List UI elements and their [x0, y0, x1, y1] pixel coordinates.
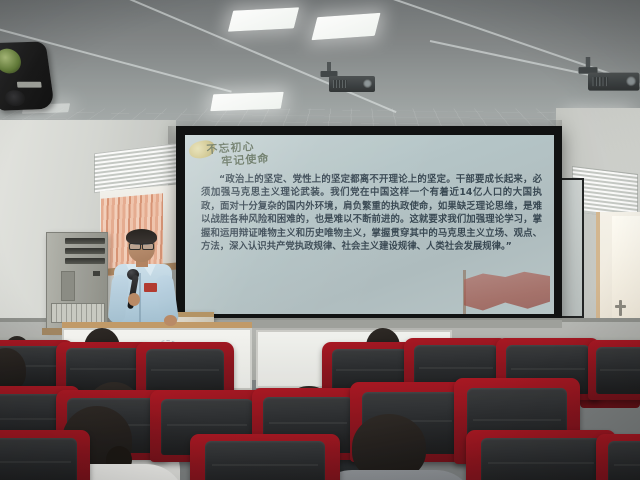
- speaker-label: [17, 82, 42, 88]
- projector-lens-icon: [626, 76, 636, 86]
- audience-seating: [0, 334, 640, 480]
- projection-screen: 不忘初心 牢记使命 “政治上的坚定、党性上的坚定都离不开理论上的坚定。干部要成长…: [176, 126, 562, 324]
- speaker-cone-icon: [0, 48, 23, 74]
- equipment-cabinet: [46, 232, 108, 330]
- panel-light-3: [210, 92, 283, 111]
- seat[interactable]: [0, 430, 90, 480]
- presenter-at-lectern: [108, 231, 182, 331]
- presenter-hand-right: [164, 315, 177, 326]
- speaker-woofer-icon: [4, 90, 26, 107]
- seat[interactable]: [596, 434, 640, 480]
- presenter-hand-left: [128, 293, 140, 306]
- slide-header: 不忘初心 牢记使命: [206, 135, 328, 173]
- presenter-badge: [144, 283, 157, 292]
- screen-surface: 不忘初心 牢记使命 “政治上的坚定、党性上的坚定都离不开理论上的坚定。干部要成长…: [185, 135, 554, 314]
- cabinet-door[interactable]: [61, 271, 75, 301]
- slide-body-text: “政治上的坚定、党性上的坚定都离不开理论上的坚定。干部要成长起来，必须加强马克思…: [201, 173, 542, 253]
- seat-cushion: [608, 441, 640, 480]
- projector-body: [588, 73, 640, 91]
- projector-lens-icon: [363, 79, 372, 88]
- seat-cushion: [146, 349, 224, 393]
- cabinet-indicator-icon: [93, 271, 100, 276]
- seat-cushion: [0, 438, 77, 480]
- seat-cushion: [205, 441, 325, 480]
- window-handle-icon[interactable]: [619, 300, 622, 316]
- window-right-upper: [560, 178, 584, 318]
- panel-light-1: [228, 7, 299, 31]
- cabinet-vent-icon: [65, 238, 105, 244]
- cabinet-grille-icon: [51, 303, 105, 323]
- projector-vent-icon: [592, 77, 608, 86]
- red-flag-graphic: [464, 270, 550, 314]
- cabinet-vent-icon: [65, 248, 105, 254]
- panel-light-2: [311, 13, 380, 40]
- seat-cushion: [481, 438, 601, 480]
- projector-vent-icon: [333, 80, 347, 88]
- seat-cushion: [596, 347, 640, 394]
- cabinet-vent-icon: [65, 258, 105, 264]
- window-handle-icon[interactable]: [615, 305, 626, 308]
- seat[interactable]: [588, 340, 640, 400]
- seat[interactable]: [466, 430, 616, 480]
- lecture-hall-photo: 不忘初心 牢记使命 “政治上的坚定、党性上的坚定都离不开理论上的坚定。干部要成长…: [0, 0, 640, 480]
- wall-speaker: [0, 41, 55, 110]
- seat[interactable]: [190, 434, 340, 480]
- projector-body: [329, 76, 375, 92]
- glasses-icon: [129, 243, 154, 248]
